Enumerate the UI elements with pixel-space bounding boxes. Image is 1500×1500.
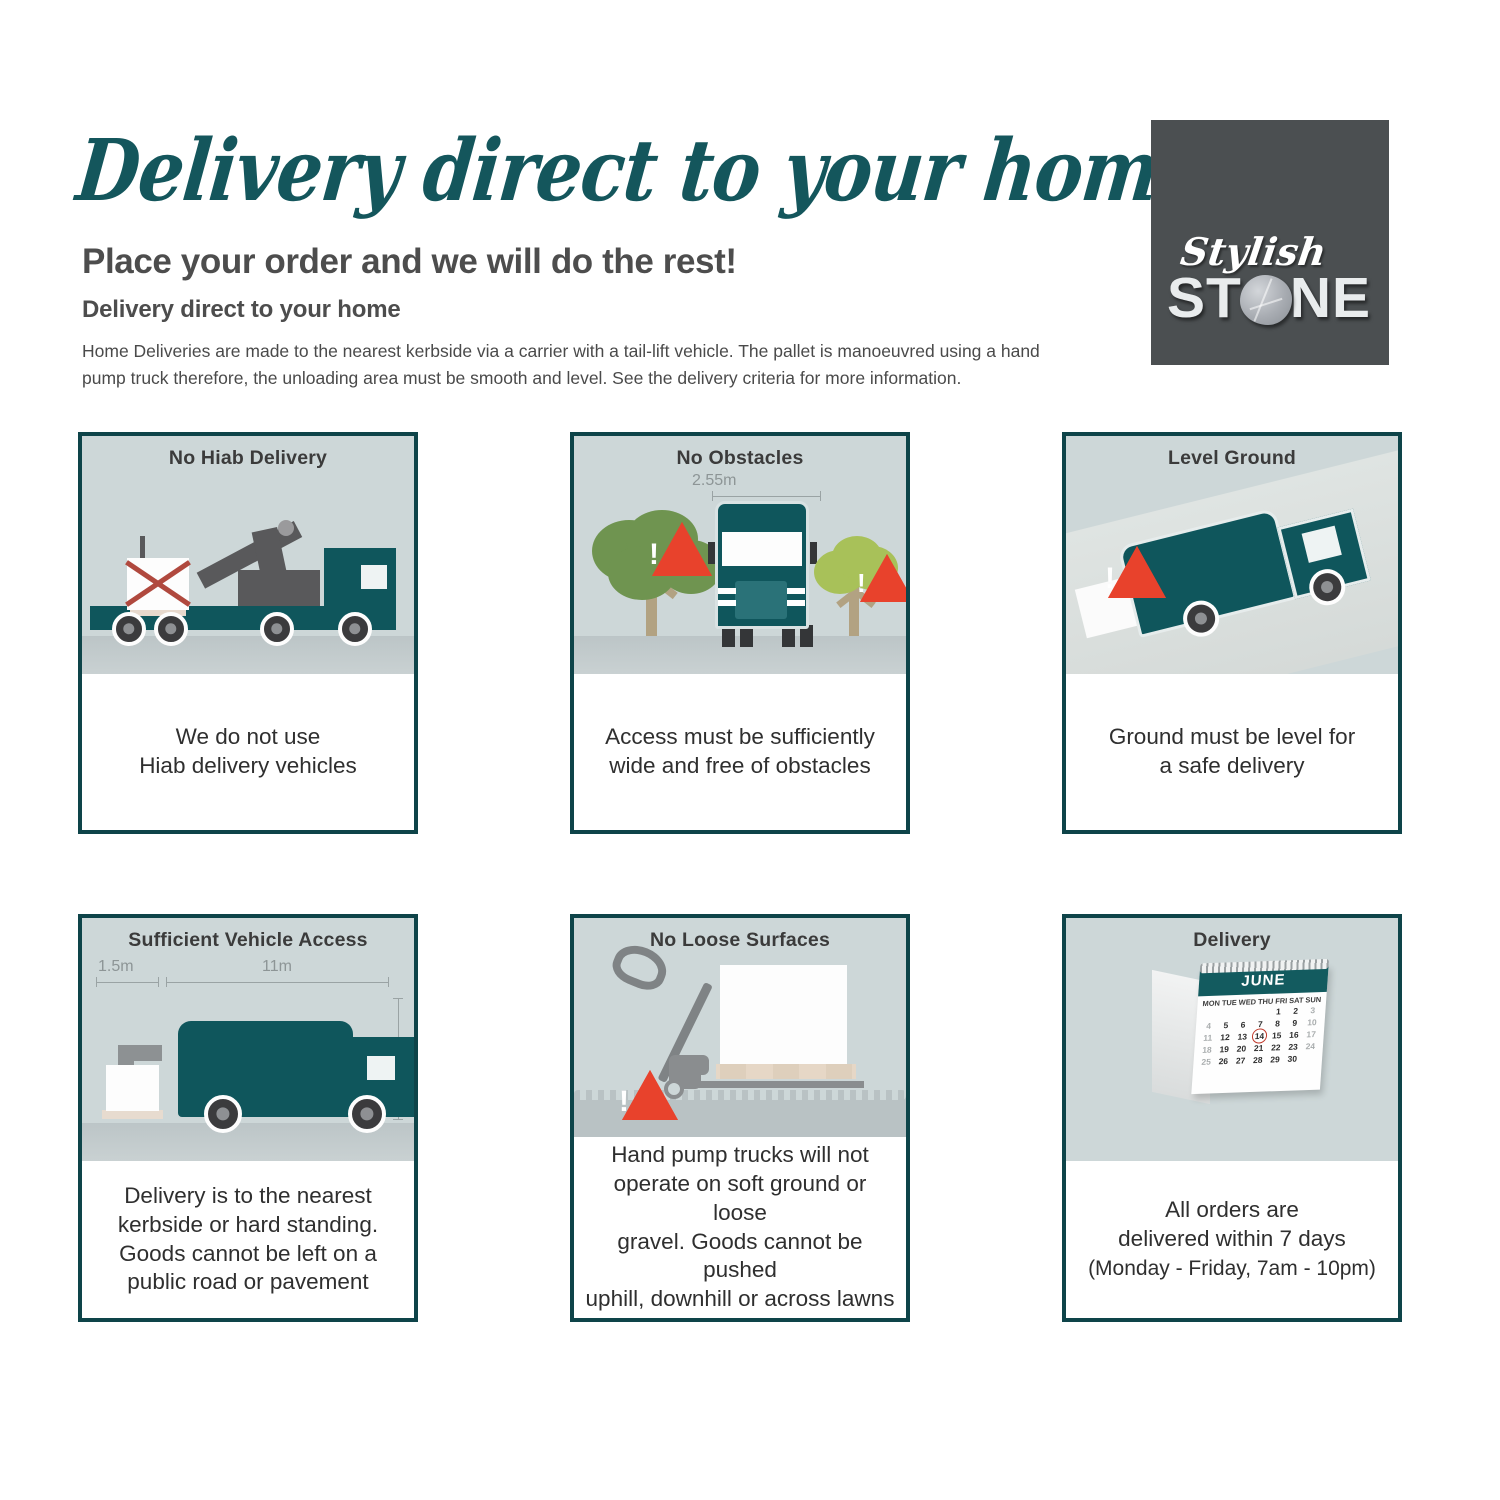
calendar-date: 17 (1302, 1029, 1320, 1040)
calendar-date: 21 (1250, 1043, 1268, 1054)
calendar-day-header: FRI (1275, 996, 1288, 1005)
card-title: Sufficient Vehicle Access (82, 929, 414, 952)
card-illustration-truck-side-with-pallet: Sufficient Vehicle Access 1.5m 11m 4m (82, 918, 414, 1161)
delivery-criteria-grid: No Hiab Delivery (78, 432, 1410, 1322)
card-sufficient-vehicle-access: Sufficient Vehicle Access 1.5m 11m 4m (78, 914, 418, 1322)
dimension-line (166, 982, 388, 983)
calendar-day-header: SAT (1289, 996, 1304, 1005)
card-no-loose-surfaces: No Loose Surfaces ! (570, 914, 910, 1322)
caption-line: Delivery is to the nearest (124, 1183, 372, 1208)
calendar-date: 3 (1304, 1005, 1322, 1016)
card-illustration-truck-front-with-trees: No Obstacles 2.55m (574, 436, 906, 674)
calendar-date: 12 (1216, 1032, 1234, 1043)
calendar-date: 16 (1285, 1029, 1303, 1040)
calendar-date: 25 (1197, 1056, 1215, 1067)
calendar-date: 22 (1267, 1042, 1285, 1053)
card-caption: We do not use Hiab delivery vehicles (82, 674, 414, 830)
card-title: No Hiab Delivery (82, 447, 414, 470)
caption-line: Ground must be level for (1109, 724, 1355, 749)
card-caption: Hand pump trucks will not operate on sof… (574, 1137, 906, 1318)
wheel (112, 612, 146, 646)
calendar-date: 4 (1200, 1021, 1218, 1032)
dimension-tick (820, 491, 821, 501)
caption-line: Hiab delivery vehicles (139, 753, 357, 778)
section-heading: Delivery direct to your home (82, 296, 1082, 324)
calendar-date: 26 (1214, 1056, 1232, 1067)
calendar-date: 8 (1269, 1018, 1287, 1029)
wheel (154, 612, 188, 646)
delivery-info-page: Delivery direct to your home Place your … (0, 0, 1500, 1500)
caption-line: a safe delivery (1159, 753, 1304, 778)
caption-line: delivered within 7 days (1118, 1226, 1346, 1251)
card-title: Delivery (1066, 929, 1398, 952)
caption-line: (Monday - Friday, 7am - 10pm) (1088, 1257, 1376, 1280)
page-title: Delivery direct to your home (73, 128, 1082, 213)
logo-wordmark: STNE (1167, 270, 1375, 327)
cab-window (364, 1053, 398, 1083)
headlight (787, 600, 805, 606)
dimension-tick (712, 491, 713, 501)
calendar-date: 6 (1234, 1019, 1252, 1030)
dimension-line (96, 982, 158, 983)
card-delivery: Delivery JUNE MON TUE WED THU FRI (1062, 914, 1402, 1322)
card-caption: Ground must be level for a safe delivery (1066, 674, 1398, 830)
card-level-ground: Level Ground ! (1062, 432, 1402, 834)
card-illustration-desk-calendar: Delivery JUNE MON TUE WED THU FRI (1066, 918, 1398, 1161)
calendar-date: 14 (1251, 1031, 1269, 1042)
dimension-label-width: 2.55m (692, 472, 736, 490)
calendar-date: 10 (1303, 1017, 1321, 1028)
calendar-date: 19 (1215, 1044, 1233, 1055)
logo-word-part2: NE (1290, 266, 1371, 330)
calendar-date: 20 (1232, 1043, 1250, 1054)
calendar-date: 30 (1283, 1053, 1301, 1064)
caption-line: wide and free of obstacles (609, 753, 870, 778)
calendar-date: 27 (1232, 1055, 1250, 1066)
card-illustration-hand-pump-truck: No Loose Surfaces ! (574, 918, 906, 1137)
caption-line: We do not use (176, 724, 321, 749)
calendar-date: 28 (1249, 1055, 1267, 1066)
desk-calendar-icon: JUNE MON TUE WED THU FRI SAT SUN 1234567… (1144, 960, 1329, 1110)
calendar-date: 24 (1301, 1041, 1319, 1052)
dimension-tick (96, 977, 97, 987)
caption-line: uphill, downhill or across lawns (586, 1286, 895, 1311)
card-no-hiab-delivery: No Hiab Delivery (78, 432, 418, 834)
mirror (810, 542, 817, 564)
calendar-empty-cell (1201, 1009, 1219, 1020)
pump-truck-body (679, 1055, 709, 1075)
calendar-date: 13 (1233, 1031, 1251, 1042)
calendar-date: 11 (1199, 1032, 1217, 1043)
pump-truck-fork (674, 1081, 864, 1088)
wheel (338, 612, 372, 646)
caption-line: gravel. Goods cannot be pushed (617, 1229, 862, 1283)
caption-line: kerbside or hard standing. (118, 1212, 378, 1237)
package-box (720, 965, 847, 1065)
cab-window (358, 562, 390, 592)
dimension-label-tail: 1.5m (98, 958, 134, 976)
calendar-page: JUNE MON TUE WED THU FRI SAT SUN 1234567… (1191, 964, 1328, 1094)
caption-line: public road or pavement (127, 1269, 368, 1294)
calendar-day-header: MON (1202, 999, 1220, 1009)
card-illustration-hiab-crane-truck: No Hiab Delivery (82, 436, 414, 674)
caption-line: Access must be sufficiently (605, 724, 875, 749)
card-caption: Access must be sufficiently wide and fre… (574, 674, 906, 830)
card-caption: All orders are delivered within 7 days (… (1066, 1161, 1398, 1318)
crane-pivot (278, 520, 294, 536)
pallet-base (716, 1064, 856, 1079)
calendar-date: 23 (1284, 1041, 1302, 1052)
dimension-tick (388, 977, 389, 987)
dimension-line (712, 496, 820, 497)
calendar-empty-cell (1301, 1053, 1319, 1064)
headlight (787, 588, 805, 594)
crane-hook (140, 536, 145, 558)
calendar-day-header: WED (1238, 997, 1256, 1007)
calendar-date: 9 (1286, 1018, 1304, 1029)
calendar-empty-cell (1252, 1007, 1270, 1018)
card-caption: Delivery is to the nearest kerbside or h… (82, 1161, 414, 1318)
calendar-day-header: TUE (1222, 998, 1237, 1007)
caption-line: All orders are (1165, 1197, 1299, 1222)
calendar-date-grid: 1234567891011121314151617181920212223242… (1193, 1005, 1326, 1067)
truck-trailer (178, 1021, 353, 1117)
grille (735, 581, 787, 619)
wheel (260, 612, 294, 646)
calendar-empty-cell (1235, 1007, 1253, 1018)
calendar-empty-cell (1218, 1008, 1236, 1019)
dimension-line (393, 998, 403, 999)
calendar-date: 5 (1217, 1020, 1235, 1031)
calendar-day-header: THU (1258, 997, 1274, 1007)
calendar-date: 18 (1198, 1044, 1216, 1055)
pebble-icon (1240, 275, 1292, 325)
logo-word-part1: ST (1167, 266, 1242, 330)
caption-line: Goods cannot be left on a (119, 1241, 377, 1266)
dimension-tick (158, 977, 159, 987)
calendar-date: 2 (1287, 1006, 1305, 1017)
package-box (106, 1065, 159, 1111)
wheel (348, 1095, 386, 1133)
brand-logo: Stylish STNE (1151, 120, 1389, 365)
dimension-label-length: 11m (262, 958, 292, 976)
calendar-date: 1 (1269, 1006, 1287, 1017)
page-header: Delivery direct to your home Place your … (82, 128, 1082, 391)
card-illustration-truck-on-slope: Level Ground ! (1066, 436, 1398, 674)
pallet-base (102, 1110, 163, 1119)
caption-line: operate on soft ground or loose (614, 1171, 867, 1225)
wheel (204, 1095, 242, 1133)
caption-line: Hand pump trucks will not (611, 1142, 869, 1167)
logo-script-text: Stylish (1178, 234, 1377, 270)
sub-heading: Place your order and we will do the rest… (82, 242, 1082, 282)
crane-base (238, 570, 320, 608)
calendar-date: 15 (1268, 1030, 1286, 1041)
intro-paragraph: Home Deliveries are made to the nearest … (82, 338, 1072, 391)
windscreen (722, 532, 802, 566)
headlight (718, 600, 736, 606)
card-title: Level Ground (1066, 447, 1398, 470)
dimension-line (393, 1119, 403, 1120)
dimension-tick (166, 977, 167, 987)
calendar-day-header: SUN (1305, 995, 1321, 1005)
calendar-date: 29 (1266, 1054, 1284, 1065)
headlight (718, 588, 736, 594)
card-title: No Obstacles (574, 447, 906, 470)
card-no-obstacles: No Obstacles 2.55m (570, 432, 910, 834)
card-title: No Loose Surfaces (574, 929, 906, 952)
